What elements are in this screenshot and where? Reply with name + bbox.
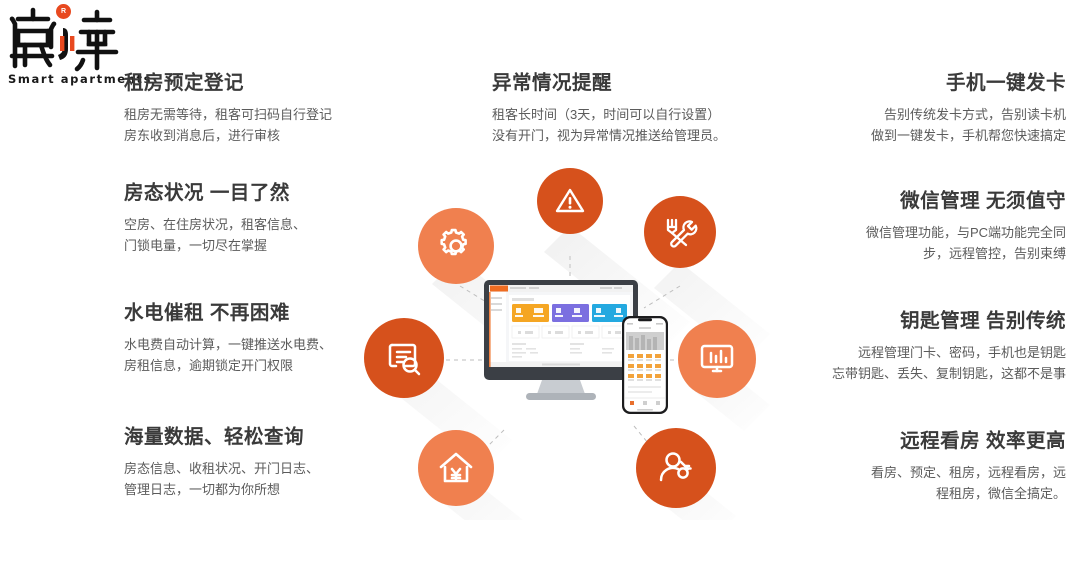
feature-title: 租房预定登记 — [124, 72, 332, 95]
feature-desc-line: 房东收到消息后，进行审核 — [124, 125, 332, 146]
feature-key-manage: 钥匙管理 告别传统 远程管理门卡、密码，手机也是钥匙 忘带钥匙、丢失、复制钥匙，… — [832, 310, 1066, 384]
feature-desc-line: 水电费自动计算，一键推送水电费、 — [124, 334, 332, 355]
feature-desc-line: 做到一键发卡，手机帮您快速搞定 — [871, 125, 1066, 146]
feature-abnormal-alert: 异常情况提醒 租客长时间（3天，时间可以自行设置） 没有开门，视为异常情况推送给… — [492, 72, 726, 146]
feature-desc-line: 租客长时间（3天，时间可以自行设置） — [492, 104, 726, 125]
feature-desc-line: 步，远程管控，告别束缚 — [866, 243, 1066, 264]
tools-icon — [659, 211, 701, 253]
feature-desc-line: 程租房，微信全搞定。 — [871, 483, 1066, 504]
feature-desc-line: 租房无需等待，租客可扫码自行登记 — [124, 104, 332, 125]
monitor-chart-icon — [695, 337, 739, 381]
feature-title: 房态状况 一目了然 — [124, 182, 306, 205]
feature-desc-line: 空房、在住房状况，租客信息、 — [124, 214, 306, 235]
mobile-app — [622, 316, 668, 414]
feature-card-issue: 手机一键发卡 告别传统发卡方式，告别读卡机 做到一键发卡，手机帮您快速搞定 — [871, 72, 1066, 146]
hub-icon-rent[interactable] — [418, 430, 494, 506]
feature-desc-line: 房租信息，逾期锁定开门权限 — [124, 355, 332, 376]
feature-desc-line: 看房、预定、租房，远程看房，远 — [871, 462, 1066, 483]
feature-title: 异常情况提醒 — [492, 72, 726, 95]
feature-desc-line: 远程管理门卡、密码，手机也是钥匙 — [832, 342, 1066, 363]
hub-icon-analytics[interactable] — [678, 320, 756, 398]
hub-icon-settings[interactable] — [418, 208, 494, 284]
feature-desc-line: 微信管理功能，与PC端功能完全同 — [866, 222, 1066, 243]
feature-desc-line: 告别传统发卡方式，告别读卡机 — [871, 104, 1066, 125]
feature-title: 微信管理 无须值守 — [866, 190, 1066, 213]
feature-title: 手机一键发卡 — [871, 72, 1066, 95]
feature-desc-line: 门锁电量，一切尽在掌握 — [124, 235, 306, 256]
feature-booking: 租房预定登记 租房无需等待，租客可扫码自行登记 房东收到消息后，进行审核 — [124, 72, 332, 146]
feature-title: 水电催租 不再困难 — [124, 302, 332, 325]
feature-data-query: 海量数据、轻松查询 房态信息、收租状况、开门日志、 管理日志，一切都为你所想 — [124, 426, 319, 500]
hub-icon-alert[interactable] — [537, 168, 603, 234]
feature-wechat-manage: 微信管理 无须值守 微信管理功能，与PC端功能完全同 步，远程管控，告别束缚 — [866, 190, 1066, 264]
house-yuan-icon — [434, 446, 478, 490]
person-key-icon — [654, 446, 698, 490]
feature-desc-line: 忘带钥匙、丢失、复制钥匙，这都不是事 — [832, 363, 1066, 384]
feature-remote-view: 远程看房 效率更高 看房、预定、租房，远程看房，远 程租房，微信全搞定。 — [871, 430, 1066, 504]
brand-logo: R Smart apartments — [4, 4, 130, 92]
hub-diagram — [362, 168, 772, 520]
feature-utility: 水电催租 不再困难 水电费自动计算，一键推送水电费、 房租信息，逾期锁定开门权限 — [124, 302, 332, 376]
feature-title: 钥匙管理 告别传统 — [832, 310, 1066, 333]
feature-desc-line: 房态信息、收租状况、开门日志、 — [124, 458, 319, 479]
hub-icon-maintenance[interactable] — [644, 196, 716, 268]
feature-desc-line: 没有开门，视为异常情况推送给管理员。 — [492, 125, 726, 146]
feature-title: 远程看房 效率更高 — [871, 430, 1066, 453]
document-search-icon — [382, 336, 426, 380]
warning-triangle-icon — [551, 182, 589, 220]
hub-icon-records[interactable] — [364, 318, 444, 398]
promo-page: R Smart apartments 租房预定登记 租房无需等待，租客可扫码自行… — [0, 0, 1072, 569]
feature-status: 房态状况 一目了然 空房、在住房状况，租客信息、 门锁电量，一切尽在掌握 — [124, 182, 306, 256]
desktop-dashboard — [482, 280, 640, 410]
feature-title: 海量数据、轻松查询 — [124, 426, 319, 449]
registered-mark-icon: R — [56, 4, 71, 19]
gear-icon — [436, 226, 476, 266]
hub-icon-access[interactable] — [636, 428, 716, 508]
feature-desc-line: 管理日志，一切都为你所想 — [124, 479, 319, 500]
